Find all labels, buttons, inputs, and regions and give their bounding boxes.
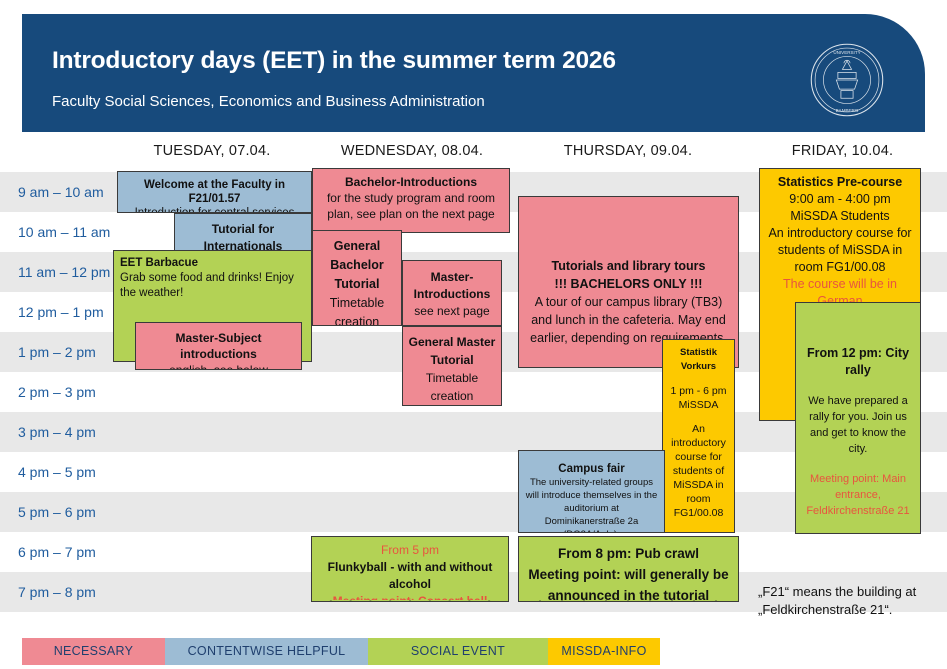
day-header-friday: FRIDAY, 10.04. — [745, 140, 940, 162]
event-title: Master-Introductions — [408, 269, 496, 303]
legend-item-social-event[interactable]: SOCIAL EVENT — [368, 638, 548, 665]
page-subtitle: Faculty Social Sciences, Economics and B… — [52, 93, 485, 110]
event-desc: We have prepared a rally for you. Join u… — [801, 393, 915, 457]
event-desc: Timetable creation — [318, 294, 396, 326]
event-line-4: An introductory course for students of M… — [765, 225, 915, 276]
legend: NECESSARY CONTENTWISE HELPFUL SOCIAL EVE… — [22, 638, 660, 665]
time-label-1200: 12 pm – 1 pm — [18, 292, 128, 332]
page-title: Introductory days (EET) in the summer te… — [52, 47, 616, 75]
time-label-0900: 9 am – 10 am — [18, 172, 128, 212]
event-title: Statistics Pre-course — [765, 174, 915, 191]
event-title: Welcome at the Faculty in F21/01.57 — [123, 178, 306, 206]
event-flunkyball[interactable]: From 5 pm Flunkyball - with and without … — [311, 536, 509, 602]
event-master-introductions[interactable]: Master-Introductions see next page — [402, 260, 502, 326]
event-master-subject-introductions[interactable]: Master-Subject introductions english, se… — [135, 322, 302, 370]
event-title: EET Barbacue — [120, 256, 305, 271]
time-label-1100: 11 am – 12 pm — [18, 252, 128, 292]
event-title: General Master Tutorial — [408, 333, 496, 369]
time-label-1500: 3 pm – 4 pm — [18, 412, 128, 452]
event-bachelor-introductions[interactable]: Bachelor-Introductions for the study pro… — [312, 168, 510, 233]
event-city-rally[interactable]: From 12 pm: City rally We have prepared … — [795, 302, 921, 534]
event-line-2: 9:00 am - 4:00 pm — [765, 191, 915, 208]
event-title: General Bachelor Tutorial — [318, 237, 396, 294]
schedule-grid: TUESDAY, 07.04. WEDNESDAY, 08.04. THURSD… — [0, 140, 947, 630]
event-desc: Grab some food and drinks! Enjoy the wea… — [120, 271, 305, 301]
university-seal-logo: UNIVERSITY BAMBERG — [809, 42, 885, 118]
legend-item-contentwise-helpful[interactable]: CONTENTWISE HELPFUL — [165, 638, 368, 665]
event-desc: english, see below — [141, 362, 296, 370]
event-note: Meeting point: Main entrance, Feldkirche… — [801, 471, 915, 519]
svg-text:UNIVERSITY: UNIVERSITY — [833, 50, 860, 55]
time-label-1000: 10 am – 11 am — [18, 212, 128, 252]
event-title: Campus fair — [524, 463, 659, 476]
event-line-3: MiSSDA Students — [765, 208, 915, 225]
event-title: Bachelor-Introductions — [318, 174, 504, 190]
time-label-1700: 5 pm – 6 pm — [18, 492, 128, 532]
event-desc-2: An introductory course for students of M… — [668, 422, 729, 520]
legend-item-missda-info[interactable]: MISSDA-INFO — [548, 638, 660, 665]
time-label-1900: 7 pm – 8 pm — [18, 572, 128, 612]
event-general-master-tutorial[interactable]: General Master Tutorial Timetable creati… — [402, 326, 502, 406]
day-header-wednesday: WEDNESDAY, 08.04. — [312, 140, 512, 162]
event-line-1: From 5 pm — [317, 542, 503, 559]
event-desc: Timetable creation — [408, 369, 496, 405]
event-general-bachelor-tutorial[interactable]: General Bachelor Tutorial Timetable crea… — [312, 230, 402, 326]
event-line-2: Meeting point: will generally be announc… — [524, 564, 733, 602]
event-desc: Introduction for central services — [123, 206, 306, 213]
event-campus-fair[interactable]: Campus fair The university-related group… — [518, 450, 665, 533]
event-pub-crawl[interactable]: From 8 pm: Pub crawl Meeting point: will… — [518, 536, 739, 602]
event-desc: see next page — [408, 303, 496, 320]
event-desc: for the study program and room plan, see… — [318, 190, 504, 222]
footnote-f21-explanation: „F21“ means the building at „Feldkirchen… — [758, 583, 938, 618]
time-label-1400: 2 pm – 3 pm — [18, 372, 128, 412]
event-desc: 1 pm - 6 pm MiSSDA — [668, 384, 729, 412]
time-label-1300: 1 pm – 2 pm — [18, 332, 128, 372]
event-line-1: From 8 pm: Pub crawl — [524, 543, 733, 564]
time-label-1600: 4 pm – 5 pm — [18, 452, 128, 492]
event-title: Tutorials and library tours — [524, 257, 733, 275]
page-header-banner: Introductory days (EET) in the summer te… — [22, 14, 925, 132]
legend-item-necessary[interactable]: NECESSARY — [22, 638, 165, 665]
svg-text:BAMBERG: BAMBERG — [836, 108, 859, 113]
time-label-1800: 6 pm – 7 pm — [18, 532, 128, 572]
event-title: From 12 pm: City rally — [801, 345, 915, 379]
event-welcome-faculty[interactable]: Welcome at the Faculty in F21/01.57 Intr… — [117, 171, 312, 213]
event-title: Statistik Vorkurs — [668, 346, 729, 374]
day-header-thursday: THURSDAY, 09.04. — [518, 140, 738, 162]
day-header-tuesday: TUESDAY, 07.04. — [112, 140, 312, 162]
event-desc: The university-related groups will intro… — [524, 476, 659, 533]
event-line-2: Flunkyball - with and without alcohol — [317, 559, 503, 593]
event-title-warning: !!! BACHELORS ONLY !!! — [524, 275, 733, 293]
event-title: Master-Subject introductions — [141, 330, 296, 362]
event-statistik-vorkurs[interactable]: Statistik Vorkurs 1 pm - 6 pm MiSSDA An … — [662, 339, 735, 533]
